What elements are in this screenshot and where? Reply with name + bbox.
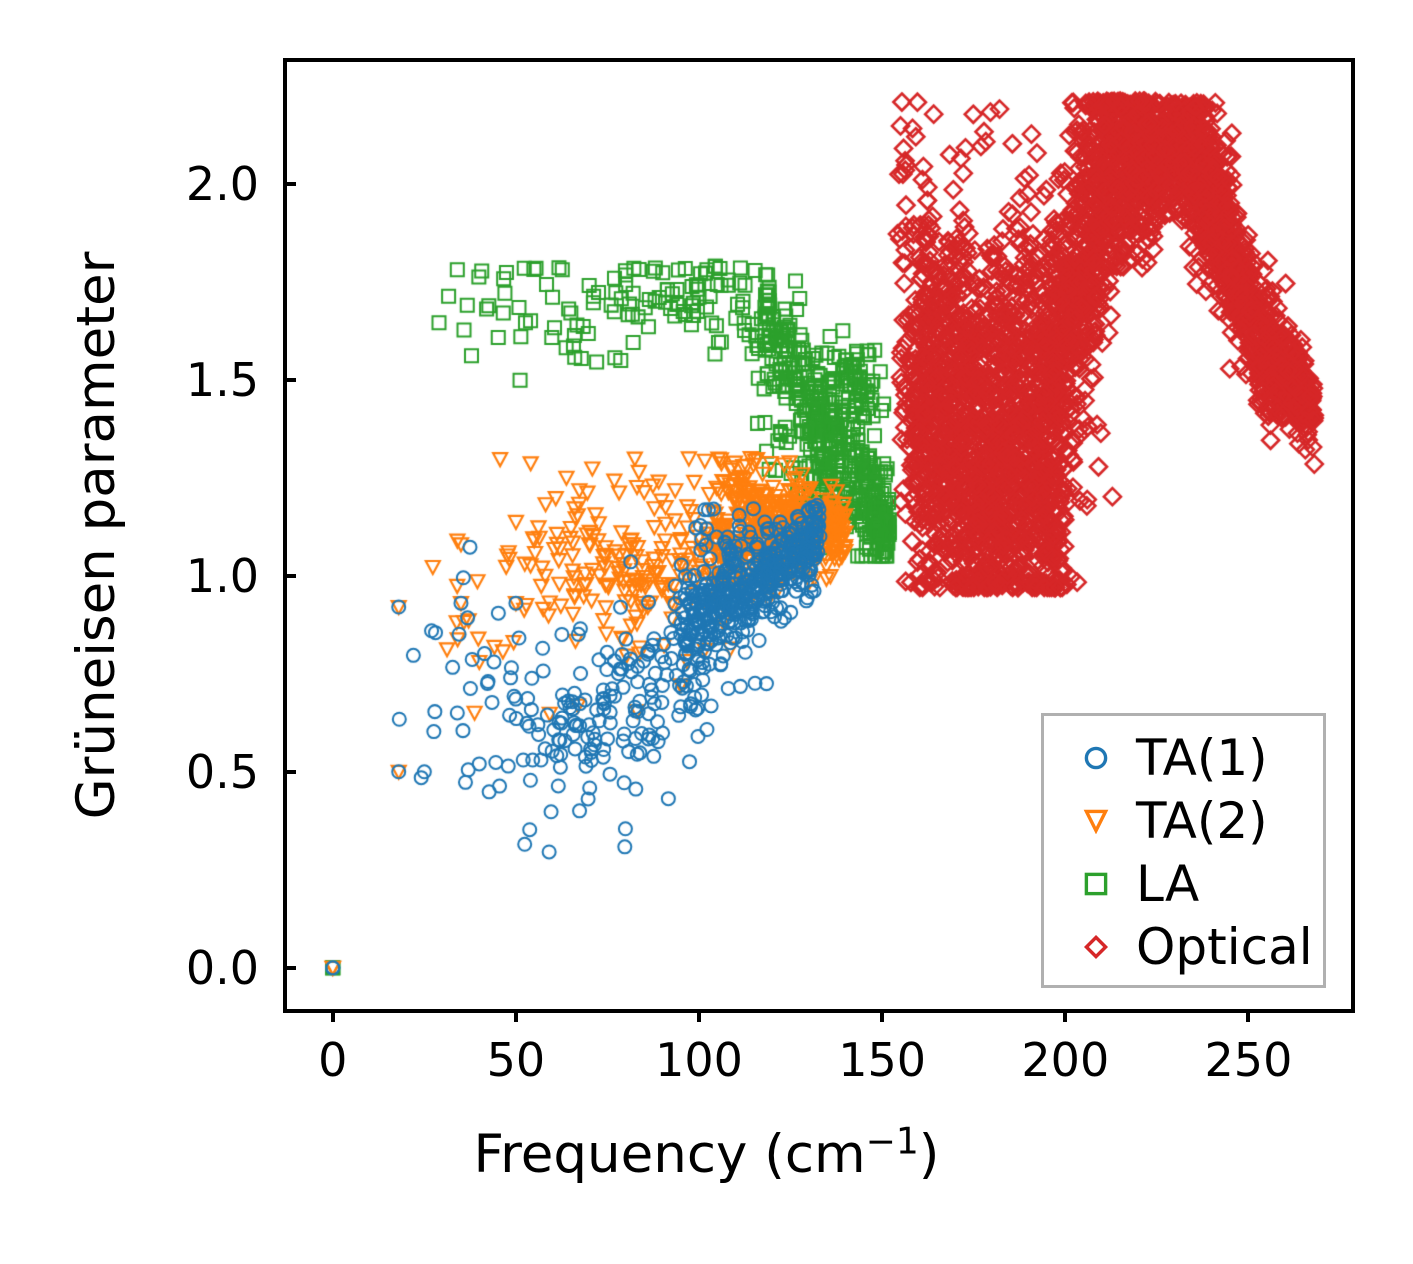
x-axis-label: Frequency (cm−1): [0, 1128, 1413, 1181]
x-tick-label: 250: [1205, 1037, 1293, 1083]
x-tick-label: 0: [318, 1037, 347, 1083]
y-tick-mark: [283, 182, 296, 186]
y-tick-mark: [283, 574, 296, 578]
legend-item-ta1[interactable]: TA(1): [1044, 726, 1323, 789]
y-tick-mark: [283, 770, 296, 774]
legend-label: TA(2): [1136, 796, 1268, 846]
y-tick-mark: [283, 378, 296, 382]
legend-item-la[interactable]: LA: [1044, 852, 1323, 915]
x-tick-mark: [697, 1009, 701, 1022]
x-axis-label-base: Frequency (cm: [474, 1124, 866, 1185]
x-tick-mark: [331, 1009, 335, 1022]
x-tick-label: 50: [487, 1037, 546, 1083]
x-tick-mark: [1063, 1009, 1067, 1022]
x-tick-mark: [880, 1009, 884, 1022]
x-tick-label: 100: [655, 1037, 743, 1083]
legend-marker-square-icon: [1074, 871, 1118, 897]
y-axis-label: Grüneisen parameter: [70, 58, 140, 1013]
legend-item-ta2[interactable]: TA(2): [1044, 789, 1323, 852]
y-tick-mark: [283, 966, 296, 970]
legend-label: Optical: [1136, 922, 1313, 972]
x-tick-label: 200: [1021, 1037, 1109, 1083]
chart-legend[interactable]: TA(1)TA(2)LAOptical: [1041, 713, 1326, 988]
x-axis-label-exponent: −1: [866, 1121, 919, 1162]
legend-item-optical[interactable]: Optical: [1044, 915, 1323, 978]
legend-label: LA: [1136, 859, 1199, 909]
legend-marker-diamond-icon: [1074, 934, 1118, 960]
figure-root: 050100150200250 0.00.51.01.52.0 Frequenc…: [0, 0, 1413, 1264]
x-axis-label-tail: ): [919, 1124, 940, 1185]
legend-marker-triangle-down-icon: [1074, 808, 1118, 834]
x-tick-mark: [1246, 1009, 1250, 1022]
legend-label: TA(1): [1136, 733, 1268, 783]
x-tick-mark: [514, 1009, 518, 1022]
legend-marker-circle-icon: [1074, 745, 1118, 771]
x-tick-label: 150: [838, 1037, 926, 1083]
